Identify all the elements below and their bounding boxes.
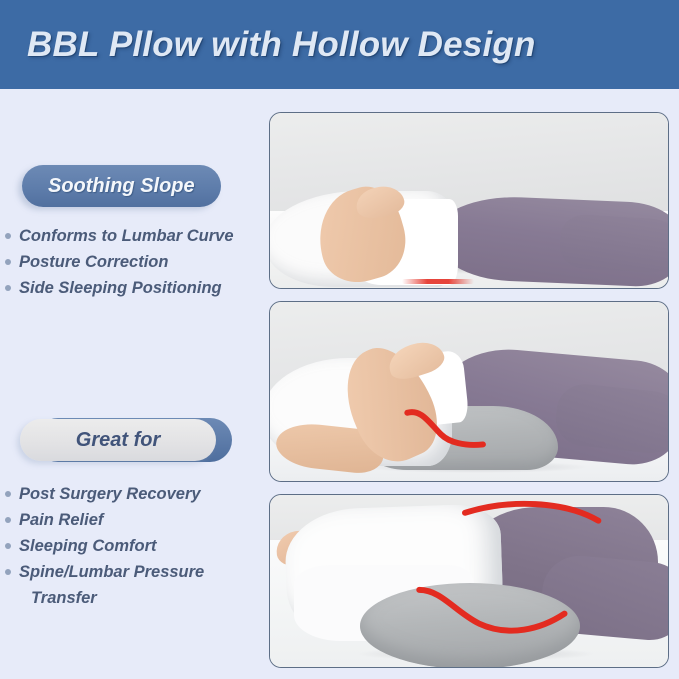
bullet-list-great-for: Post Surgery Recovery Pain Relief Sleepi… [0, 481, 262, 611]
list-item: Sleeping Comfort [0, 533, 262, 559]
product-photo-panels [269, 0, 669, 679]
bullet-text: Side Sleeping Positioning [19, 279, 222, 297]
badge-great-for-label: Great for [76, 429, 160, 452]
bullet-text: Sleeping Comfort [19, 537, 157, 555]
list-item: Pain Relief [0, 507, 262, 533]
bullet-text-line2: Transfer [19, 585, 262, 611]
product-photo-panel-1[interactable] [269, 112, 669, 289]
badge-great-for-pill: Great for [20, 419, 216, 461]
bullet-text: Post Surgery Recovery [19, 485, 201, 503]
bullet-list-soothing-slope: Conforms to Lumbar Curve Posture Correct… [0, 223, 262, 301]
badge-soothing-slope-label: Soothing Slope [48, 175, 195, 198]
scene-bbl-pillow [360, 583, 580, 667]
infographic-page: BBL Pllow with Hollow Design Soothing Sl… [0, 0, 679, 679]
scene-lower-leg [559, 213, 668, 274]
bullet-dot-icon [5, 491, 11, 497]
list-item: Post Surgery Recovery [0, 481, 262, 507]
product-photo-panel-2[interactable] [269, 301, 669, 482]
bullet-text: Pain Relief [19, 511, 103, 529]
badge-soothing-slope-pill: Soothing Slope [22, 165, 221, 207]
scene-red-accent-line [402, 279, 474, 284]
bullet-text: Posture Correction [19, 253, 168, 271]
bullet-dot-icon [5, 569, 11, 575]
bullet-text: Conforms to Lumbar Curve [19, 227, 234, 245]
product-photo-panel-3[interactable] [269, 494, 669, 668]
photo-scene-wedge-pillow [270, 302, 668, 481]
badge-soothing-slope: Soothing Slope [0, 165, 262, 209]
bullet-dot-icon [5, 233, 11, 239]
section-great-for: Great for Post Surgery Recovery Pain Rel… [0, 417, 262, 611]
features-column: Soothing Slope Conforms to Lumbar Curve … [0, 89, 262, 679]
list-item: Side Sleeping Positioning [0, 275, 262, 301]
bullet-dot-icon [5, 285, 11, 291]
bullet-dot-icon [5, 543, 11, 549]
photo-scene-closeup-pillow [270, 495, 668, 667]
list-item: Posture Correction [0, 249, 262, 275]
list-item: Conforms to Lumbar Curve [0, 223, 262, 249]
photo-scene-flat-lying [270, 113, 668, 288]
bullet-dot-icon [5, 517, 11, 523]
section-soothing-slope: Soothing Slope Conforms to Lumbar Curve … [0, 165, 262, 301]
list-item: Spine/Lumbar PressureTransfer [0, 559, 262, 611]
badge-great-for: Great for [0, 417, 262, 463]
bullet-text: Spine/Lumbar Pressure [19, 563, 204, 581]
bullet-dot-icon [5, 259, 11, 265]
